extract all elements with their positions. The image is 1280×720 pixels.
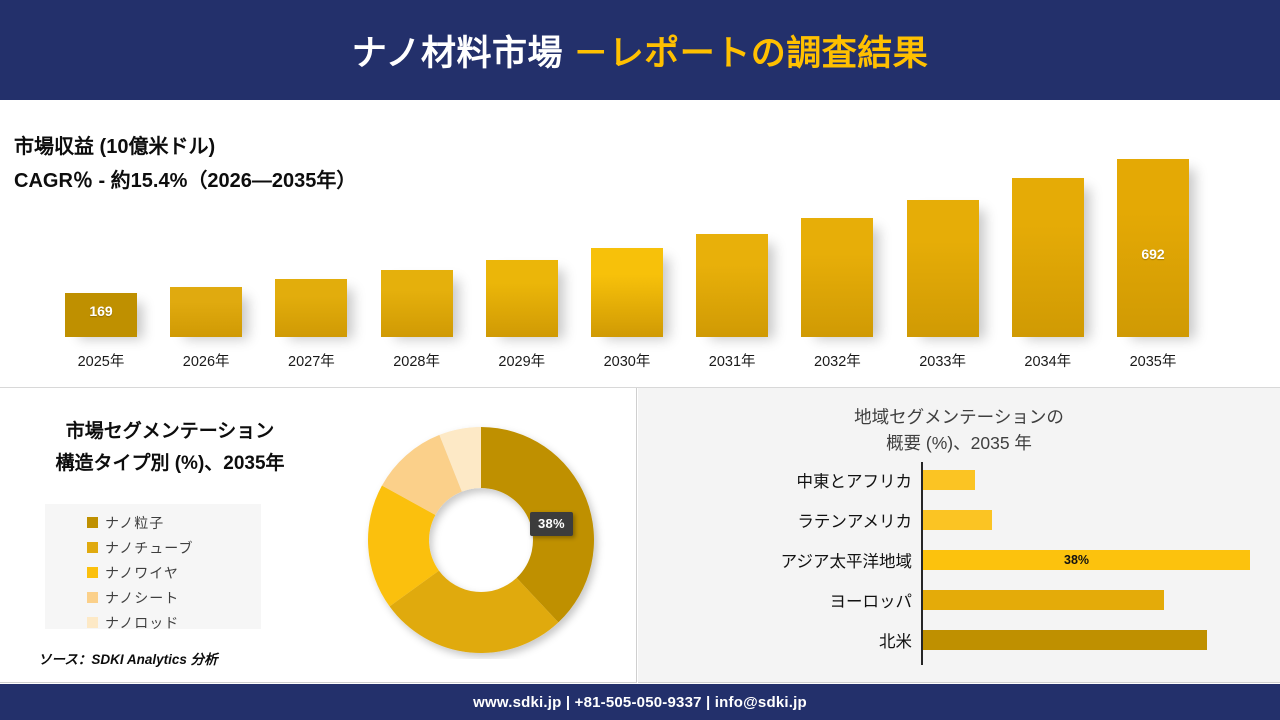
- page-title: ナノ材料市場 －レポートの調査結果: [352, 25, 929, 76]
- segmentation-title-line1: 市場セグメンテーション: [20, 416, 320, 448]
- revenue-bar: [1012, 178, 1084, 337]
- revenue-bar-category-label: 2034年: [1000, 350, 1096, 371]
- revenue-bar: [170, 287, 242, 337]
- page-header: ナノ材料市場 －レポートの調査結果: [0, 0, 1280, 100]
- regional-bar[interactable]: [923, 510, 992, 530]
- regional-bar-label: ラテンアメリカ: [797, 508, 912, 532]
- revenue-bar-value-label: 692: [1117, 246, 1189, 262]
- revenue-bar-category-label: 2031年: [684, 350, 780, 371]
- revenue-bar-column: 2029年: [486, 260, 558, 337]
- revenue-bar: [275, 279, 347, 337]
- revenue-bar-column: 2030年: [591, 248, 663, 337]
- segmentation-title: 市場セグメンテーション 構造タイプ別 (%)、2035年: [20, 416, 320, 480]
- regional-bar-chart: 中東とアフリカラテンアメリカアジア太平洋地域38%ヨーロッパ北米: [638, 460, 1280, 670]
- donut-legend-label: ナノワイヤ: [105, 563, 179, 583]
- revenue-bar-category-label: 2033年: [895, 350, 991, 371]
- regional-bar[interactable]: [923, 630, 1207, 650]
- revenue-bar-category-label: 2029年: [474, 350, 570, 371]
- revenue-bar-column: 6922035年: [1117, 159, 1189, 337]
- donut-chart-svg: [352, 421, 610, 659]
- revenue-bar-value-label: 169: [65, 303, 137, 319]
- donut-chart: 38%: [352, 421, 610, 659]
- regional-bar-row: アジア太平洋地域38%: [638, 540, 1280, 580]
- revenue-bar-column: 1692025年: [65, 293, 137, 337]
- legend-swatch-icon: [87, 517, 98, 528]
- donut-legend-item[interactable]: ナノロッド: [45, 610, 261, 635]
- footer-contact: www.sdki.jp | +81-505-050-9337 | info@sd…: [473, 694, 807, 711]
- revenue-bar-category-label: 2030年: [579, 350, 675, 371]
- donut-legend-label: ナノシート: [105, 588, 179, 608]
- regional-bar[interactable]: [923, 590, 1164, 610]
- regional-bar-row: ヨーロッパ: [638, 580, 1280, 620]
- regional-bar-label: ヨーロッパ: [830, 588, 913, 612]
- donut-legend-item[interactable]: ナノチューブ: [45, 535, 261, 560]
- revenue-bar-category-label: 2027年: [263, 350, 359, 371]
- revenue-bar-category-label: 2032年: [789, 350, 885, 371]
- revenue-bar: [486, 260, 558, 337]
- revenue-bar-category-label: 2035年: [1105, 350, 1201, 371]
- revenue-bar: [696, 234, 768, 337]
- revenue-bar-column: 2026年: [170, 287, 242, 337]
- revenue-bar: [907, 200, 979, 337]
- regional-bar[interactable]: [923, 470, 975, 490]
- donut-legend-label: ナノロッド: [105, 613, 179, 633]
- donut-legend-label: ナノ粒子: [105, 513, 164, 533]
- regional-title-line1: 地域セグメンテーションの: [638, 404, 1280, 430]
- legend-swatch-icon: [87, 592, 98, 603]
- regional-bar-row: 中東とアフリカ: [638, 460, 1280, 500]
- donut-legend-item[interactable]: ナノワイヤ: [45, 560, 261, 585]
- revenue-bar: [381, 270, 453, 337]
- revenue-bar-column: 2033年: [907, 200, 979, 337]
- revenue-bar-column: 2031年: [696, 234, 768, 337]
- revenue-bar-category-label: 2025年: [53, 350, 149, 371]
- revenue-bars: 1692025年2026年2027年2028年2029年2030年2031年20…: [0, 102, 1280, 387]
- regional-panel: 地域セグメンテーションの 概要 (%)、2035 年 中東とアフリカラテンアメリ…: [638, 388, 1280, 683]
- segmentation-title-line2: 構造タイプ別 (%)、2035年: [20, 448, 320, 480]
- regional-bar-value-label: 38%: [1064, 553, 1089, 567]
- donut-legend-item[interactable]: ナノ粒子: [45, 510, 261, 535]
- donut-legend-item[interactable]: ナノシート: [45, 585, 261, 610]
- legend-swatch-icon: [87, 542, 98, 553]
- revenue-bar: [801, 218, 873, 337]
- regional-bar-label: 北米: [879, 628, 912, 652]
- legend-swatch-icon: [87, 567, 98, 578]
- legend-swatch-icon: [87, 617, 98, 628]
- donut-value-badge: 38%: [530, 512, 573, 536]
- revenue-bar-column: 2032年: [801, 218, 873, 337]
- page-title-main: ナノ材料市場: [352, 34, 573, 73]
- source-note: ソース：SDKI Analytics 分析: [38, 648, 218, 668]
- regional-bar-label: アジア太平洋地域: [781, 548, 912, 572]
- revenue-bar-category-label: 2026年: [158, 350, 254, 371]
- segmentation-panel: 市場セグメンテーション 構造タイプ別 (%)、2035年 ナノ粒子ナノチューブナ…: [0, 388, 637, 683]
- page-footer: www.sdki.jp | +81-505-050-9337 | info@sd…: [0, 684, 1280, 720]
- page-title-accent: －レポートの調査結果: [573, 34, 928, 73]
- donut-legend: ナノ粒子ナノチューブナノワイヤナノシートナノロッド: [45, 504, 261, 629]
- regional-bar-row: 北米: [638, 620, 1280, 660]
- regional-bar-label: 中東とアフリカ: [797, 468, 913, 492]
- revenue-bar-column: 2027年: [275, 279, 347, 337]
- donut-legend-label: ナノチューブ: [105, 538, 193, 558]
- revenue-bar-category-label: 2028年: [369, 350, 465, 371]
- revenue-bar-column: 2028年: [381, 270, 453, 337]
- regional-title-line2: 概要 (%)、2035 年: [638, 430, 1280, 456]
- revenue-bar: [591, 248, 663, 337]
- regional-bar-row: ラテンアメリカ: [638, 500, 1280, 540]
- revenue-bar-column: 2034年: [1012, 178, 1084, 337]
- regional-title: 地域セグメンテーションの 概要 (%)、2035 年: [638, 404, 1280, 456]
- revenue-bar-chart-section: 市場収益 (10億米ドル) CAGR％ - 約15.4%（2026―2035年）…: [0, 102, 1280, 388]
